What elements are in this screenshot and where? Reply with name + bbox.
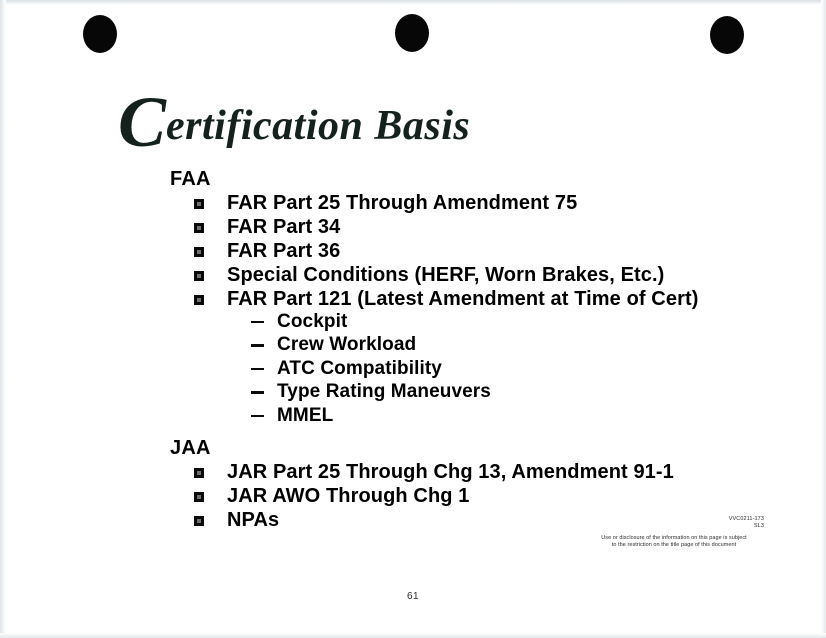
sub-list-item-label: Type Rating Maneuvers [277,381,491,402]
list-item-label: FAR Part 121 (Latest Amendment at Time o… [227,288,698,310]
square-bullet-icon [194,223,204,233]
group-heading-jaa: JAA [170,435,790,461]
outline-content: FAA FAR Part 25 Through Amendment 75 FAR… [170,166,790,533]
sub-list-item: Type Rating Maneuvers [249,381,790,404]
list-item-label: FAR Part 34 [227,216,340,238]
sub-list-item: MMEL [249,405,790,428]
document-code-line1: VVC0211-173 [584,516,764,523]
disclaimer-line1: Use or disclosure of the information on … [584,535,764,542]
dash-bullet-icon [251,391,264,394]
list-item: FAR Part 36 [194,240,790,263]
bullet-list-faa: FAR Part 25 Through Amendment 75 FAR Par… [170,192,790,427]
list-item: JAR Part 25 Through Chg 13, Amendment 91… [194,461,790,484]
list-item-label: FAR Part 25 Through Amendment 75 [227,192,577,214]
title-text: ertification Basis [166,103,470,149]
footer-notice: VVC0211-173 SL3 Use or disclosure of the… [584,516,764,549]
square-bullet-icon [194,468,204,478]
sub-bullet-list-far121: Cockpit Crew Workload ATC Compatibility [227,311,790,428]
list-item: JAR AWO Through Chg 1 [194,485,790,508]
dash-bullet-icon [251,321,264,324]
list-item-label: NPAs [227,509,279,531]
document-code-line2: SL3 [584,523,764,530]
square-bullet-icon [194,516,204,526]
group-heading-faa: FAA [170,166,790,192]
sub-list-item-label: MMEL [277,405,333,426]
list-item-label: JAR Part 25 Through Chg 13, Amendment 91… [227,461,674,483]
slide-page: Certification Basis FAA FAR Part 25 Thro… [0,0,826,638]
hole-punch-right-icon [710,16,744,54]
sub-list-item-label: ATC Compatibility [277,358,442,379]
outline-group-faa: FAA FAR Part 25 Through Amendment 75 FAR… [170,166,790,427]
title-dropcap: C [118,82,166,162]
list-item: FAR Part 25 Through Amendment 75 [194,192,790,215]
list-item: FAR Part 121 (Latest Amendment at Time o… [194,288,790,427]
page-title: Certification Basis [118,86,470,158]
square-bullet-icon [194,199,204,209]
list-item-label: FAR Part 36 [227,240,340,262]
list-item: FAR Part 34 [194,216,790,239]
sub-list-item-label: Crew Workload [277,334,416,355]
list-item-label: JAR AWO Through Chg 1 [227,485,469,507]
page-number: 61 [0,591,826,602]
dash-bullet-icon [251,415,264,418]
page-edge-bottom [0,633,826,638]
hole-punch-center-icon [395,14,429,52]
square-bullet-icon [194,492,204,502]
list-item: Special Conditions (HERF, Worn Brakes, E… [194,264,790,287]
dash-bullet-icon [251,344,264,347]
sub-list-item: Cockpit [249,311,790,334]
page-edge-top [0,0,826,5]
hole-punch-left-icon [83,15,117,53]
sub-list-item: Crew Workload [249,334,790,357]
square-bullet-icon [194,271,204,281]
square-bullet-icon [194,247,204,257]
dash-bullet-icon [251,368,264,371]
page-edge-right [821,0,826,638]
page-edge-left [0,0,6,638]
disclaimer-line2: to the restriction on the title page of … [584,542,764,549]
square-bullet-icon [194,295,204,305]
sub-list-item-label: Cockpit [277,311,347,332]
list-item-label: Special Conditions (HERF, Worn Brakes, E… [227,264,664,286]
sub-list-item: ATC Compatibility [249,358,790,381]
